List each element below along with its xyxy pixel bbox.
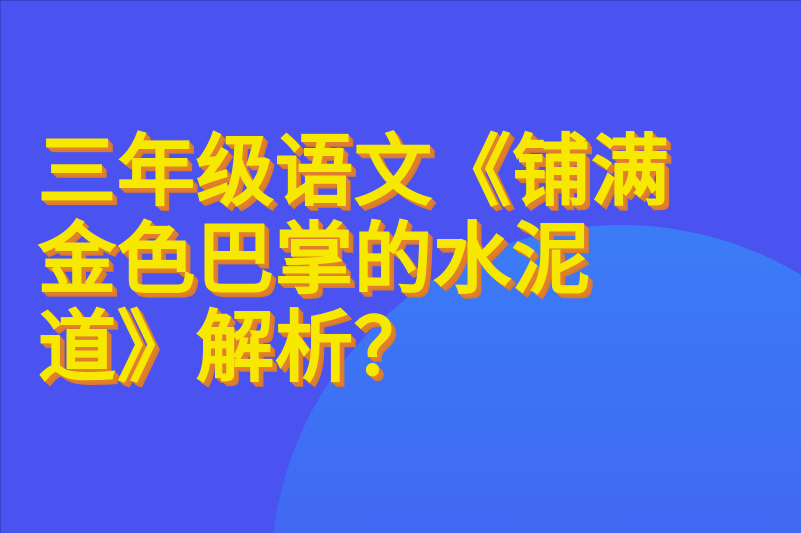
headline-line-2: 金色巴掌的水泥 bbox=[38, 216, 778, 304]
poster-canvas: 三年级语文《铺满 金色巴掌的水泥 道》解析？ bbox=[0, 0, 801, 533]
headline-line-1: 三年级语文《铺满 bbox=[38, 128, 778, 216]
headline-block: 三年级语文《铺满 金色巴掌的水泥 道》解析？ bbox=[38, 128, 778, 392]
headline-line-3: 道》解析？ bbox=[38, 304, 778, 392]
